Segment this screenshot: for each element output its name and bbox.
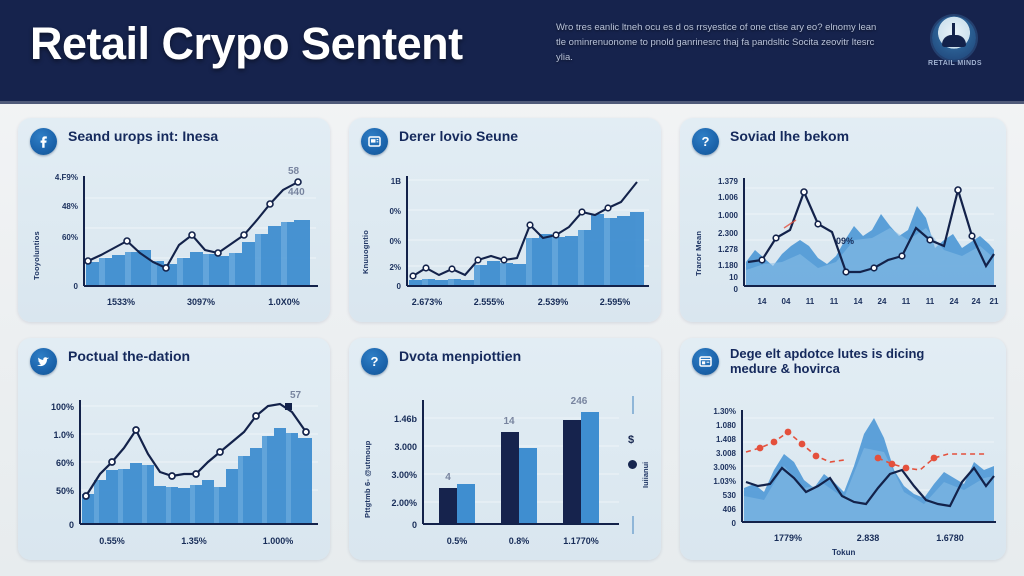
header-subtitle: Wro tres eanlic ltneh ocu es d os rrsyes… xyxy=(556,20,886,65)
x-tick-label: 0.55% xyxy=(99,536,125,546)
chart-area: 100% 1.0% 60% 50% 0 0.55% 1.35% 1.000% 5… xyxy=(26,384,326,552)
x-tick-label: 2.555% xyxy=(474,297,505,307)
panel-title: Derer lovio Seune xyxy=(399,129,651,144)
panel-title: Poctual the-dation xyxy=(68,349,320,364)
y-tick-label: 0 xyxy=(734,285,739,294)
x-tick-label: 3097% xyxy=(187,297,215,307)
y-tick-label: 0 xyxy=(397,282,402,291)
question-icon: ? xyxy=(692,128,719,155)
panel-derer-lovio[interactable]: Derer lovio Seune xyxy=(349,118,661,322)
x-tick-label: 1.6780 xyxy=(936,533,964,543)
y-tick-label: 0% xyxy=(389,237,401,246)
y-tick-label: 48% xyxy=(62,202,78,211)
panel-title: Dege elt apdotce lutes is dicing medure … xyxy=(730,346,996,376)
page-title: Retail Crypo Sentent xyxy=(30,18,463,70)
y-tick-label: 2.300 xyxy=(718,229,739,238)
x-tick-label: 1779% xyxy=(774,533,802,543)
x-tick-label: 0.5% xyxy=(447,536,468,546)
y-tick-label: 0 xyxy=(74,282,79,291)
x-tick-label: 11 xyxy=(902,297,911,306)
panel-header: Derer lovio Seune xyxy=(361,128,651,162)
y-tick-label: 60% xyxy=(62,233,78,242)
y-tick-label: 10 xyxy=(729,273,738,282)
x-tick-label: 0.8% xyxy=(509,536,530,546)
y-tick-label: 1.006 xyxy=(718,193,739,202)
browser-window-icon xyxy=(692,348,719,375)
y-tick-label: 3.008 xyxy=(716,449,737,458)
y-axis-title: Traror Mean xyxy=(694,200,703,276)
y-tick-label: 2% xyxy=(389,263,401,272)
x-tick-label: 24 xyxy=(950,297,959,306)
brand-name: RETAIL MINDS xyxy=(924,60,986,67)
x-tick-label: 2.595% xyxy=(600,297,631,307)
facebook-icon xyxy=(30,128,57,155)
panel-soviad-bekom[interactable]: ? Soviad lhe bekom xyxy=(680,118,1006,322)
panel-poctual-dation[interactable]: Poctual the-dation xyxy=(18,338,330,560)
y-tick-label: 0 xyxy=(412,520,417,530)
x-tick-label: 1.0X0% xyxy=(268,297,300,307)
x-tick-label: 21 xyxy=(990,297,999,306)
y-tick-label: 2.00% xyxy=(391,498,417,508)
y-tick-label: 4.F9% xyxy=(55,173,78,182)
panel-title-line2: medure & hovirca xyxy=(730,361,840,376)
panel-header: ? Soviad lhe bekom xyxy=(692,128,996,162)
svg-text:?: ? xyxy=(702,134,710,149)
news-card-icon xyxy=(361,128,388,155)
x-tick-label: 11 xyxy=(830,297,839,306)
y-tick-label: 60% xyxy=(56,458,74,468)
y-axis-title: Knuuogntio xyxy=(361,196,370,274)
x-tick-label: 24 xyxy=(878,297,887,306)
y-tick-label: 0 xyxy=(732,519,737,528)
x-tick-label: 1.35% xyxy=(181,536,207,546)
data-label: 14 xyxy=(503,416,515,427)
data-label: 57 xyxy=(290,390,302,401)
bar-group xyxy=(439,412,599,524)
data-label: 440 xyxy=(288,187,305,198)
lighthouse-badge-icon xyxy=(932,16,976,60)
legend-marker-dot xyxy=(628,460,637,469)
x-tick-label: 1.000% xyxy=(263,536,294,546)
x-tick-label: 1.1770% xyxy=(563,536,599,546)
x-tick-label: 14 xyxy=(758,297,767,306)
x-axis-title: Tokun xyxy=(832,548,855,557)
panel-dege-apdotce[interactable]: Dege elt apdotce lutes is dicing medure … xyxy=(680,338,1006,560)
data-label: 58 xyxy=(288,166,300,177)
y-tick-label: 530 xyxy=(723,491,737,500)
panel-grid: Seand urops int: Inesa xyxy=(0,104,1024,576)
panel-title: Seand urops int: Inesa xyxy=(68,129,320,144)
y-tick-label: 100% xyxy=(51,402,74,412)
inline-annotation: 09% xyxy=(836,236,854,246)
y-tick-label: 3.00% xyxy=(391,470,417,480)
y-tick-label: 3.00% xyxy=(713,463,736,472)
legend-tick xyxy=(632,396,634,414)
legend-currency-symbol: $ xyxy=(628,434,634,446)
chart-area: 1.30% 1.080 1.408 3.008 3.00% 1.03% 530 … xyxy=(688,396,1002,552)
x-tick-label: 11 xyxy=(926,297,935,306)
chart-area: 1.46b 3.000 3.00% 2.00% 0 0.5% 0.8% 1.17… xyxy=(357,384,657,552)
twitter-icon xyxy=(30,348,57,375)
panel-title: Soviad lhe bekom xyxy=(730,129,996,144)
y-tick-label: 1.03% xyxy=(713,477,736,486)
y-tick-label: 1.408 xyxy=(716,435,737,444)
y-tick-label: 1.180 xyxy=(718,261,739,270)
chart-area: 1B 0% 0% 2% 0 2.673% 2.555% 2.539% 2.595… xyxy=(357,162,657,314)
panel-title: Dvota menpiottien xyxy=(399,349,651,364)
panel-title-line1: Dege elt apdotce lutes is dicing xyxy=(730,346,924,361)
y-tick-label: 1.46b xyxy=(394,414,418,424)
y-tick-label: 50% xyxy=(56,486,74,496)
chart-area: 4.F9% 48% 60% 0 1533% 3097% 1.0X0% 58 44… xyxy=(26,162,326,314)
x-tick-label: 14 xyxy=(854,297,863,306)
y-tick-label: 1.080 xyxy=(716,421,737,430)
x-tick-label: 24 xyxy=(972,297,981,306)
panel-header: Seand urops int: Inesa xyxy=(30,128,320,162)
chart-area: 1.379 1.006 1.000 2.300 1.278 1.180 10 0… xyxy=(688,162,1002,314)
y-tick-label: 1.30% xyxy=(713,407,736,416)
panel-header: ? Dvota menpiottien xyxy=(361,348,651,382)
y-axis-title: Tooyoluntios xyxy=(32,194,41,280)
data-label: 4 xyxy=(445,472,451,483)
y-tick-label: 3.000 xyxy=(394,442,417,452)
y-tick-label: 0% xyxy=(389,207,401,216)
y-axis-title: Pttgtmb 6- @utmoup xyxy=(363,430,372,518)
y-tick-label: 1.379 xyxy=(718,177,739,186)
y-tick-label: 0 xyxy=(69,520,74,530)
y-tick-label: 1.000 xyxy=(718,211,739,220)
question-icon: ? xyxy=(361,348,388,375)
x-tick-label: 2.539% xyxy=(538,297,569,307)
x-tick-label: 2.838 xyxy=(857,533,880,543)
legend-tick xyxy=(632,516,634,534)
infographic-page: Retail Crypo Sentent Wro tres eanlic ltn… xyxy=(0,0,1024,576)
panel-header: Dege elt apdotce lutes is dicing medure … xyxy=(692,348,996,382)
x-tick-label: 04 xyxy=(782,297,791,306)
data-label: 246 xyxy=(571,396,588,407)
x-tick-label: 11 xyxy=(806,297,815,306)
panel-header: Poctual the-dation xyxy=(30,348,320,382)
header-banner: Retail Crypo Sentent Wro tres eanlic ltn… xyxy=(0,0,1024,104)
y-tick-label: 406 xyxy=(723,505,737,514)
x-tick-label: 2.673% xyxy=(412,297,443,307)
y-tick-label: 1.0% xyxy=(53,430,74,440)
svg-text:?: ? xyxy=(371,354,379,369)
legend-label: Iuiianui xyxy=(641,430,650,488)
panel-dvota-menpiottien[interactable]: ? Dvota menpiottien xyxy=(349,338,661,560)
y-tick-label: 1B xyxy=(391,177,401,186)
x-tick-label: 1533% xyxy=(107,297,135,307)
brand-logo: RETAIL MINDS xyxy=(924,14,986,76)
panel-sentiment-drops[interactable]: Seand urops int: Inesa xyxy=(18,118,330,322)
y-tick-label: 1.278 xyxy=(718,245,739,254)
